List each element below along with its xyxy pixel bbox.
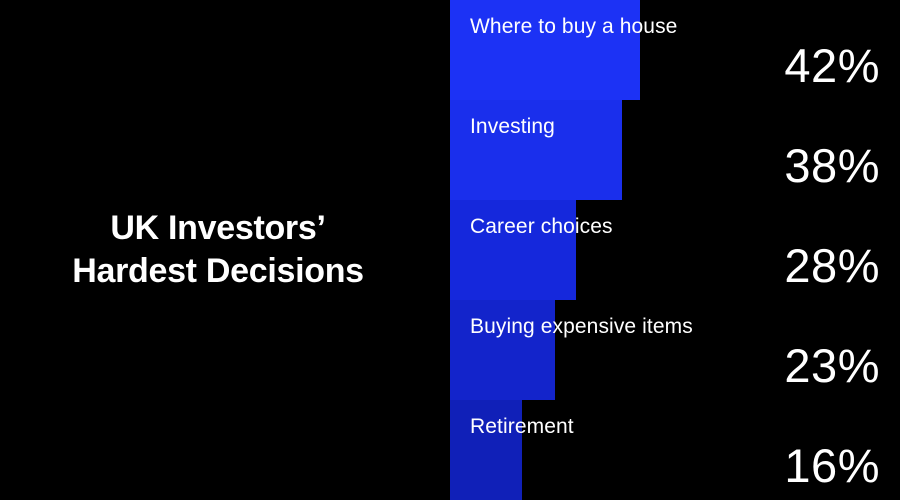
bar-chart: Where to buy a house42%Investing38%Caree…	[0, 0, 900, 500]
bar-label: Investing	[470, 115, 555, 139]
bar-row: Buying expensive items23%	[0, 300, 900, 400]
infographic-canvas: UK Investors’ Hardest Decisions Where to…	[0, 0, 900, 500]
bar-row: Where to buy a house42%	[0, 0, 900, 100]
bar-value: 23%	[784, 342, 880, 389]
bar-row: Retirement16%	[0, 400, 900, 500]
bar-label: Buying expensive items	[470, 315, 693, 339]
bar-row: Investing38%	[0, 100, 900, 200]
bar-value: 42%	[784, 42, 880, 89]
bar-value: 16%	[784, 442, 880, 489]
bar-label: Career choices	[470, 215, 613, 239]
bar-label: Retirement	[470, 415, 574, 439]
bar-value: 28%	[784, 242, 880, 289]
bar-value: 38%	[784, 142, 880, 189]
bar-row: Career choices28%	[0, 200, 900, 300]
bar-label: Where to buy a house	[470, 15, 677, 39]
